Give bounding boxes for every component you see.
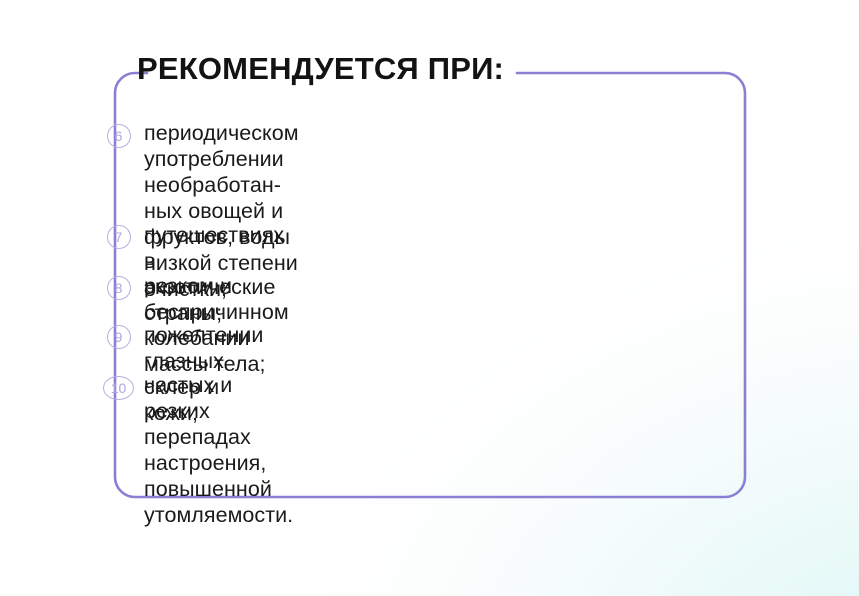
page-title: РЕКОМЕНДУЕТСЯ ПРИ:: [137, 53, 504, 86]
list-item-marker: 6: [103, 123, 134, 149]
list-item-number: 6: [107, 124, 131, 148]
list-item-number: 7: [107, 225, 131, 249]
list-item-text: частых и резких перепадах настроения, по…: [144, 372, 293, 528]
list-item-marker: 8: [103, 275, 134, 301]
list-item-marker: 10: [103, 375, 134, 401]
list-item-marker: 9: [103, 324, 134, 350]
list-item-number: 9: [107, 325, 131, 349]
list-item-number: 8: [107, 276, 131, 300]
list-item-number: 10: [103, 376, 134, 400]
slide-canvas: РЕКОМЕНДУЕТСЯ ПРИ: 6 периодическом употр…: [0, 0, 859, 596]
list-item-marker: 7: [103, 224, 134, 250]
